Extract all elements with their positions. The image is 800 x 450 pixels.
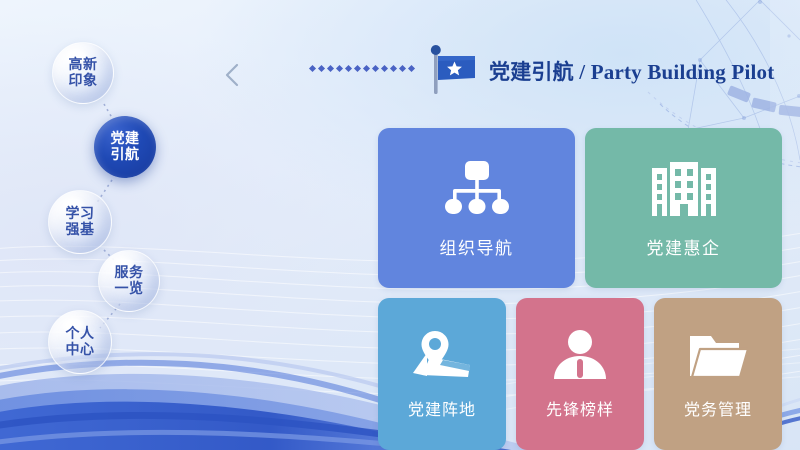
module-grid: 组织导航 <box>378 128 782 450</box>
party-flag-icon <box>426 44 484 96</box>
card-label: 党建阵地 <box>408 396 476 420</box>
person-badge-icon <box>550 328 610 384</box>
sidebar-item-label-line1: 党建 <box>111 131 140 147</box>
sidebar-item-label-line2: 一览 <box>115 281 144 297</box>
map-pin-icon <box>410 328 474 384</box>
card-dangwu-guanli[interactable]: 党务管理 <box>654 298 782 450</box>
sidebar-item-geren-zhongxin[interactable]: 个人 中心 <box>48 310 112 374</box>
card-label: 党务管理 <box>684 396 752 420</box>
module-row-bottom: 党建阵地 先锋榜样 <box>378 298 782 450</box>
card-zuzhi-daohang[interactable]: 组织导航 <box>378 128 575 288</box>
sidebar-item-label-line1: 学习 <box>66 206 95 222</box>
card-label: 党建惠企 <box>647 234 721 259</box>
card-dangjian-zhendi[interactable]: 党建阵地 <box>378 298 506 450</box>
sidebar-item-fuwu-yilan[interactable]: 服务 一览 <box>98 250 160 312</box>
card-xianfeng-bangyang[interactable]: 先锋榜样 <box>516 298 644 450</box>
org-chart-icon <box>440 158 514 220</box>
sidebar-item-label-line1: 高新 <box>69 57 98 73</box>
sidebar-nav: 高新 印象 党建 引航 学习 强基 服务 一览 个人 中 <box>0 0 190 450</box>
app-screen: 高新 印象 党建 引航 学习 强基 服务 一览 个人 中 <box>0 0 800 450</box>
sidebar-item-label-line2: 印象 <box>69 73 98 89</box>
sidebar-item-label-line2: 中心 <box>66 342 95 358</box>
sidebar-item-label-line1: 服务 <box>115 265 144 281</box>
chevron-left-icon <box>222 62 244 88</box>
folder-open-icon <box>687 328 749 384</box>
card-label: 组织导航 <box>440 234 514 259</box>
sidebar-item-label-line2: 强基 <box>66 222 95 238</box>
back-button[interactable] <box>216 58 250 92</box>
sidebar-item-xuexi-qiangji[interactable]: 学习 强基 <box>48 190 112 254</box>
sidebar-item-label-line1: 个人 <box>66 326 95 342</box>
module-row-top: 组织导航 <box>378 128 782 288</box>
dotted-rule <box>310 66 414 71</box>
sidebar-item-label-line2: 引航 <box>111 147 140 163</box>
page-title: 党建引航 / Party Building Pilot <box>489 56 774 86</box>
sidebar-item-gaoxin-yinxiang[interactable]: 高新 印象 <box>52 42 114 104</box>
buildings-icon <box>649 158 719 220</box>
card-label: 先锋榜样 <box>546 396 614 420</box>
card-dangjian-huiqi[interactable]: 党建惠企 <box>585 128 782 288</box>
sidebar-item-dangjian-yinhang[interactable]: 党建 引航 <box>94 116 156 178</box>
